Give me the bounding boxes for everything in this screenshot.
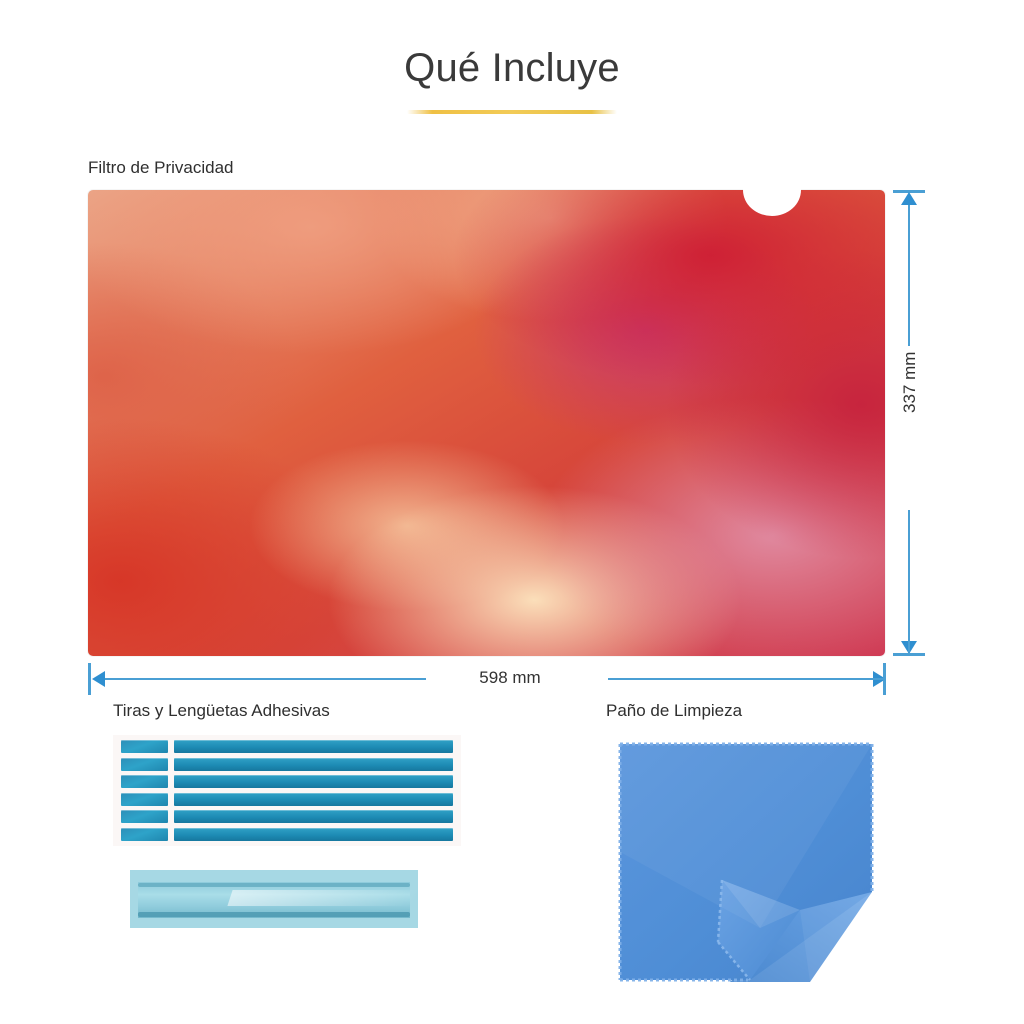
cleaning-cloth-image: [610, 732, 890, 982]
dimension-label-width: 598 mm: [440, 668, 580, 688]
adhesive-strip-row: [121, 793, 453, 806]
page-title: Qué Incluye: [0, 46, 1024, 90]
dimension-arrow-left-icon: [92, 671, 105, 687]
dimension-arrow-up-icon: [901, 192, 917, 205]
cleaning-cloth-label: Paño de Limpieza: [606, 701, 742, 721]
adhesive-strip-row: [121, 775, 453, 788]
adhesive-tab: [121, 810, 168, 823]
adhesive-strip-row: [121, 758, 453, 771]
dimension-line-horizontal-right: [608, 678, 885, 680]
dimension-line-horizontal-left: [96, 678, 426, 680]
privacy-filter-label: Filtro de Privacidad: [88, 158, 234, 178]
adhesive-roll-top-edge: [138, 883, 410, 887]
dimension-label-height: 337 mm: [900, 367, 920, 413]
adhesive-tab: [121, 775, 168, 788]
cloth-body: [620, 744, 872, 982]
adhesive-roll-highlight: [227, 890, 417, 906]
adhesive-strip: [174, 775, 453, 788]
dimension-tick-left: [88, 663, 91, 695]
adhesive-strip-row: [121, 828, 453, 841]
adhesive-strip: [174, 793, 453, 806]
dimension-line-vertical-upper: [908, 196, 910, 346]
adhesive-strip: [174, 828, 453, 841]
cleaning-cloth-graphic: [610, 732, 890, 982]
privacy-filter-screen: [88, 190, 885, 656]
adhesive-strip: [174, 758, 453, 771]
adhesive-tab: [121, 740, 168, 753]
privacy-filter-image: [88, 190, 885, 656]
adhesive-strip-row: [121, 740, 453, 753]
dimension-line-vertical-lower: [908, 510, 910, 652]
adhesive-strip: [174, 740, 453, 753]
adhesive-roll-bottom-edge: [138, 912, 410, 917]
adhesive-tab: [121, 793, 168, 806]
adhesive-tab: [121, 758, 168, 771]
dimension-tick-bottom: [893, 653, 925, 656]
title-underline-rule: [407, 110, 617, 114]
adhesive-roll-image: [130, 870, 418, 928]
privacy-filter-notch: [743, 164, 801, 216]
adhesive-strip-row: [121, 810, 453, 823]
page-header: Qué Incluye: [0, 46, 1024, 114]
adhesive-strips-image: [113, 735, 461, 846]
adhesive-strips-label: Tiras y Lengüetas Adhesivas: [113, 701, 330, 721]
adhesive-tab: [121, 828, 168, 841]
adhesive-strip: [174, 810, 453, 823]
dimension-tick-right: [883, 663, 886, 695]
